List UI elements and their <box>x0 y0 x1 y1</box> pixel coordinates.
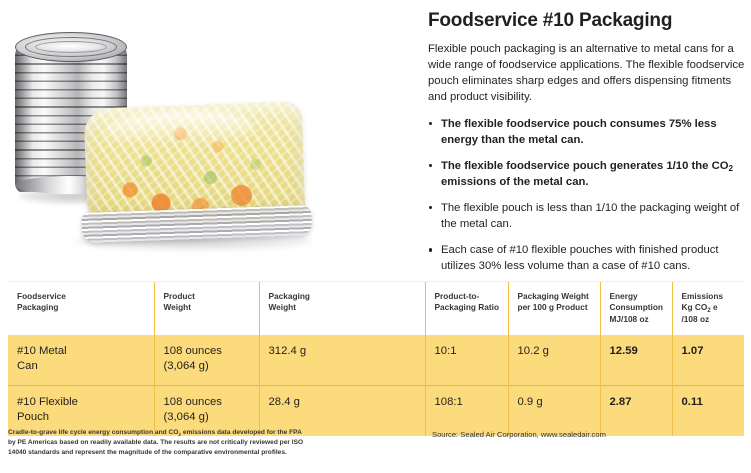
header-line: MJ/108 oz <box>610 314 649 324</box>
table-row: #10 Metal Can 108 ounces (3,064 g) 312.4… <box>8 335 744 385</box>
comparison-table: Foodservice Packaging Product Weight Pac… <box>8 281 744 436</box>
cell-packaging-weight-per-100g: 0.9 g <box>508 386 600 436</box>
cell-ratio: 10:1 <box>425 335 508 385</box>
header-line: Consumption <box>610 302 663 312</box>
comparison-table-wrapper: Foodservice Packaging Product Weight Pac… <box>8 281 744 436</box>
cell-packaging-weight-per-100g: 10.2 g <box>508 335 600 385</box>
bullet-text-after: emissions of the metal can. <box>441 176 589 188</box>
header-line: Foodservice <box>17 291 66 301</box>
header-line: per 100 g Product <box>518 302 588 312</box>
col-header-product-weight: Product Weight <box>154 282 259 336</box>
page-title: Foodservice #10 Packaging <box>428 10 746 32</box>
table-header-row: Foodservice Packaging Product Weight Pac… <box>8 282 744 336</box>
cell-line: Pouch <box>17 411 49 423</box>
header-line: Energy <box>610 291 638 301</box>
source-credit: Source: Sealed Air Corporation, www.seal… <box>432 430 732 441</box>
header-line: Emissions <box>682 291 724 301</box>
header-line: Weight <box>164 302 192 312</box>
top-section: Foodservice #10 Packaging Flexible pouch… <box>0 0 751 278</box>
cell-product-weight: 108 ounces (3,064 g) <box>154 335 259 385</box>
cell-packaging: #10 Metal Can <box>8 335 154 385</box>
header-line: /108 oz <box>682 314 710 324</box>
bullet-subscript: 2 <box>729 164 734 173</box>
copy-block: Foodservice #10 Packaging Flexible pouch… <box>428 10 746 284</box>
col-header-foodservice-packaging: Foodservice Packaging <box>8 282 154 336</box>
cell-energy-consumption: 2.87 <box>600 386 672 436</box>
header-line: Packaging <box>17 302 59 312</box>
header-line: Packaging <box>269 291 311 301</box>
list-item: The flexible foodservice pouch generates… <box>428 158 746 190</box>
col-header-energy-consumption: Energy Consumption MJ/108 oz <box>600 282 672 336</box>
cell-line: #10 Metal <box>17 345 67 357</box>
col-header-emissions: Emissions Kg CO2 e /108 oz <box>672 282 744 336</box>
cell-line: 108 ounces <box>164 396 222 408</box>
co2-subscript: 2 <box>707 308 710 314</box>
photo-stage <box>0 0 420 278</box>
header-line-co2: Kg CO2 e <box>682 302 718 312</box>
cell-line: 108 ounces <box>164 345 222 357</box>
col-header-product-to-packaging-ratio: Product-to- Packaging Ratio <box>425 282 508 336</box>
cell-emissions: 1.07 <box>672 335 744 385</box>
page-root: Foodservice #10 Packaging Flexible pouch… <box>0 0 751 473</box>
product-photo <box>0 0 420 278</box>
header-line: Product-to- <box>435 291 480 301</box>
pouch-highlight <box>104 109 255 148</box>
bullet-text-before: The flexible foodservice pouch generates… <box>441 160 729 172</box>
header-line: Weight <box>269 302 297 312</box>
list-item: The flexible pouch is less than 1/10 the… <box>428 200 746 232</box>
cell-emissions: 0.11 <box>672 386 744 436</box>
cell-line: #10 Flexible <box>17 396 78 408</box>
list-item: Each case of #10 flexible pouches with f… <box>428 242 746 274</box>
cell-packaging-weight: 312.4 g <box>259 335 425 385</box>
cell-energy-consumption: 12.59 <box>600 335 672 385</box>
benefits-list: The flexible foodservice pouch consumes … <box>428 116 746 274</box>
table-body: #10 Metal Can 108 ounces (3,064 g) 312.4… <box>8 335 744 436</box>
flexible-pouch-image <box>78 101 313 251</box>
list-item: The flexible foodservice pouch consumes … <box>428 116 746 148</box>
intro-paragraph: Flexible pouch packaging is an alternati… <box>428 41 746 105</box>
cell-ratio: 108:1 <box>425 386 508 436</box>
cell-line: (3,064 g) <box>164 411 209 423</box>
header-line: Product <box>164 291 195 301</box>
table-header: Foodservice Packaging Product Weight Pac… <box>8 282 744 336</box>
col-header-packaging-weight-per-100g: Packaging Weight per 100 g Product <box>508 282 600 336</box>
header-line: Packaging Weight <box>518 291 589 301</box>
can-lid <box>15 32 127 62</box>
col-header-packaging-weight: Packaging Weight <box>259 282 425 336</box>
co2-subscript: 2 <box>178 433 181 438</box>
cell-line: (3,064 g) <box>164 360 209 372</box>
header-line: Packaging Ratio <box>435 302 500 312</box>
methodology-footnote: Cradle-to-grave life cycle energy consum… <box>8 428 308 458</box>
cell-line: Can <box>17 360 38 372</box>
